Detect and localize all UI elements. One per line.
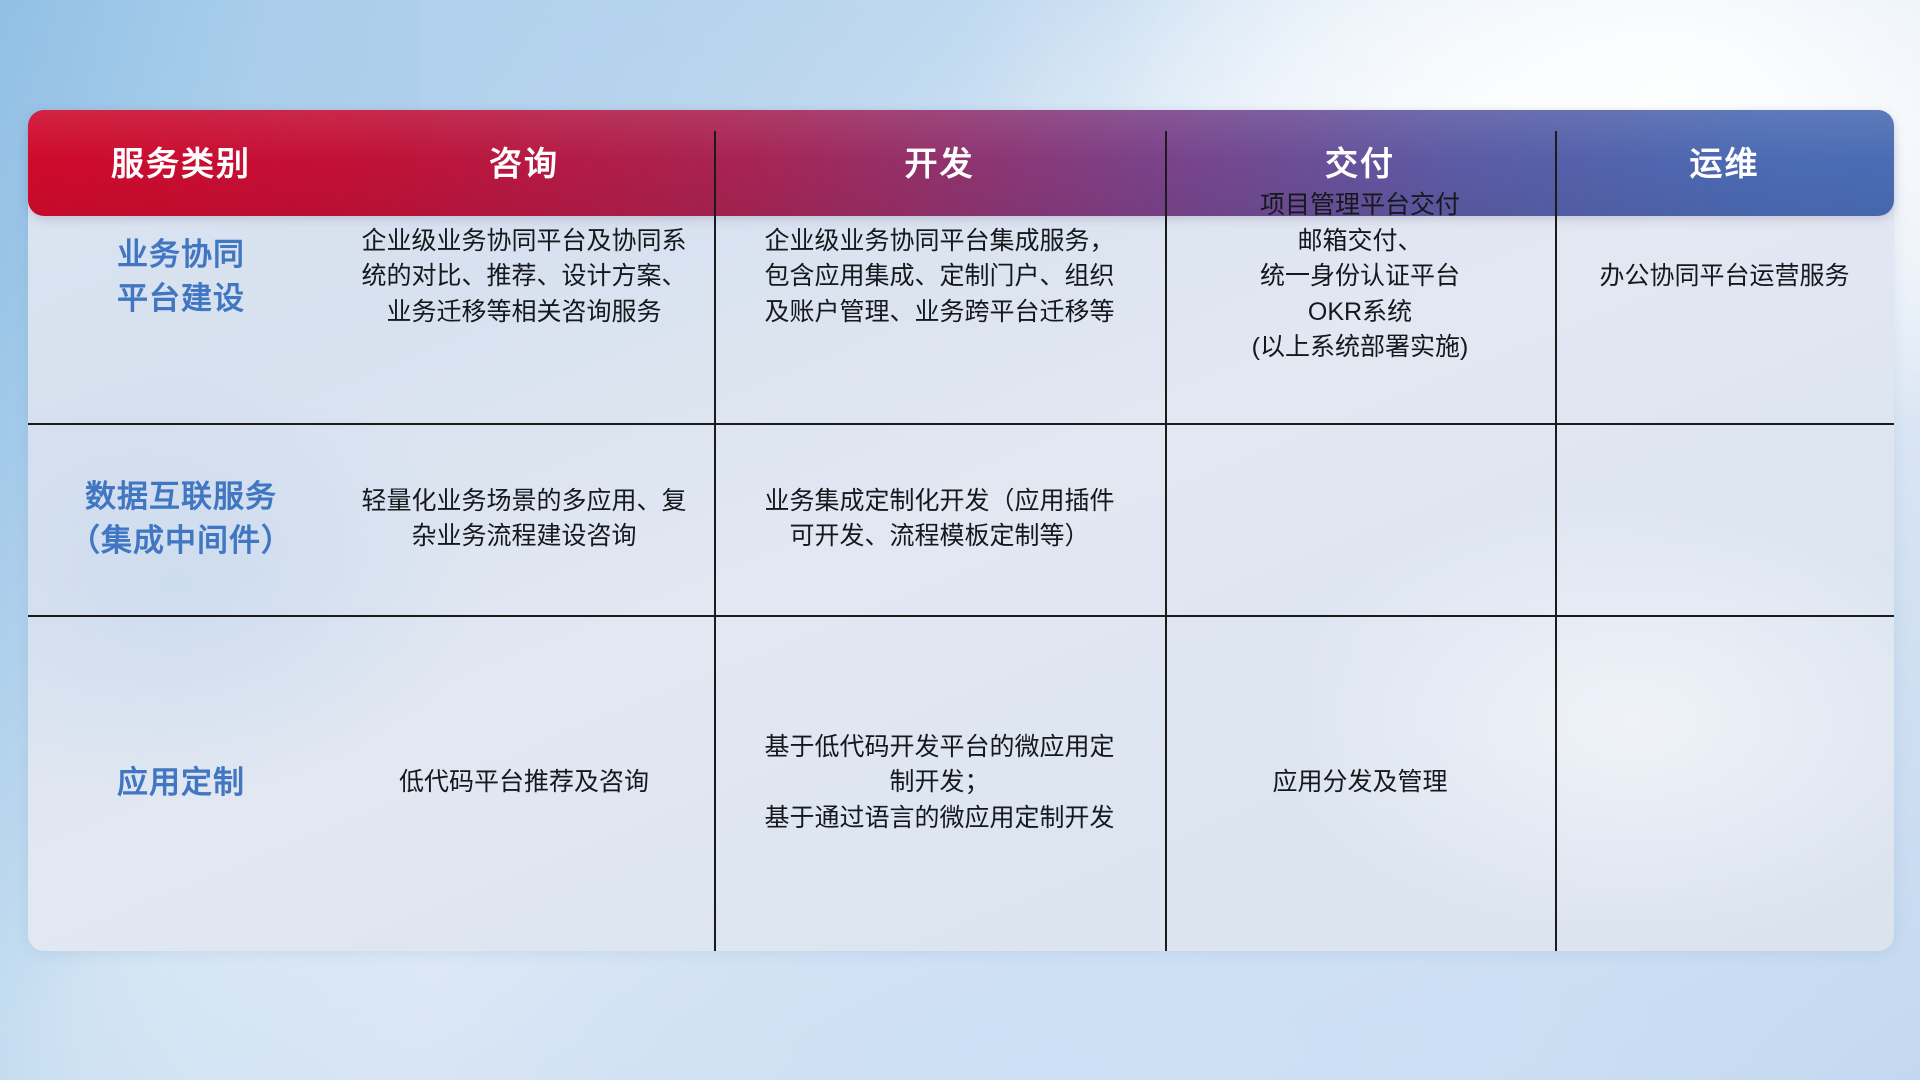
table-row: 应用定制 低代码平台推荐及咨询 基于低代码开发平台的微应用定 制开发； 基于通过… — [28, 615, 1894, 951]
column-divider-2 — [1165, 131, 1167, 951]
cell-text: 数据互联服务 （集成中间件） — [69, 475, 293, 563]
cell-text: 业务集成定制化开发（应用插件 可开发、流程模板定制等） — [748, 484, 1130, 555]
cell-text: 企业级业务协同平台集成服务， 包含应用集成、定制门户、组织 及账户管理、业务跨平… — [748, 224, 1130, 331]
header-cell-category: 服务类别 — [28, 147, 334, 180]
cell-operations — [1555, 423, 1894, 615]
cell-consulting: 轻量化业务场景的多应用、复 杂业务流程建设咨询 — [334, 423, 714, 615]
cell-category: 数据互联服务 （集成中间件） — [28, 423, 334, 615]
cell-text: 应用分发及管理 — [1256, 765, 1463, 801]
cell-category: 应用定制 — [28, 615, 334, 951]
column-divider-3 — [1555, 131, 1557, 951]
cell-text: 低代码平台推荐及咨询 — [383, 765, 665, 801]
cell-text: 应用定制 — [117, 761, 245, 805]
header-cell-consulting: 咨询 — [334, 147, 714, 180]
cell-text: 轻量化业务场景的多应用、复 杂业务流程建设咨询 — [345, 484, 702, 555]
row-divider-1 — [28, 423, 1894, 425]
cell-delivery — [1165, 423, 1555, 615]
header-cell-operations: 运维 — [1555, 147, 1894, 180]
header-cell-delivery: 交付 — [1165, 147, 1555, 180]
cell-delivery: 应用分发及管理 — [1165, 615, 1555, 951]
cell-text: 办公协同平台运营服务 — [1583, 259, 1865, 295]
column-divider-1 — [714, 131, 716, 951]
cell-operations — [1555, 615, 1894, 951]
cell-development: 基于低代码开发平台的微应用定 制开发； 基于通过语言的微应用定制开发 — [714, 615, 1165, 951]
cell-consulting: 低代码平台推荐及咨询 — [334, 615, 714, 951]
service-matrix-table: 业务协同 平台建设 企业级业务协同平台及协同系 统的对比、推荐、设计方案、 业务… — [28, 131, 1894, 951]
cell-text: 项目管理平台交付 邮箱交付、 统一身份认证平台 OKR系统 (以上系统部署实施) — [1236, 188, 1485, 366]
header-cell-development: 开发 — [714, 147, 1165, 180]
table-row: 数据互联服务 （集成中间件） 轻量化业务场景的多应用、复 杂业务流程建设咨询 业… — [28, 423, 1894, 615]
row-divider-2 — [28, 615, 1894, 617]
cell-text: 业务协同 平台建设 — [117, 233, 245, 321]
cell-text: 企业级业务协同平台及协同系 统的对比、推荐、设计方案、 业务迁移等相关咨询服务 — [345, 224, 702, 331]
cell-development: 业务集成定制化开发（应用插件 可开发、流程模板定制等） — [714, 423, 1165, 615]
cell-text: 基于低代码开发平台的微应用定 制开发； 基于通过语言的微应用定制开发 — [748, 730, 1130, 837]
